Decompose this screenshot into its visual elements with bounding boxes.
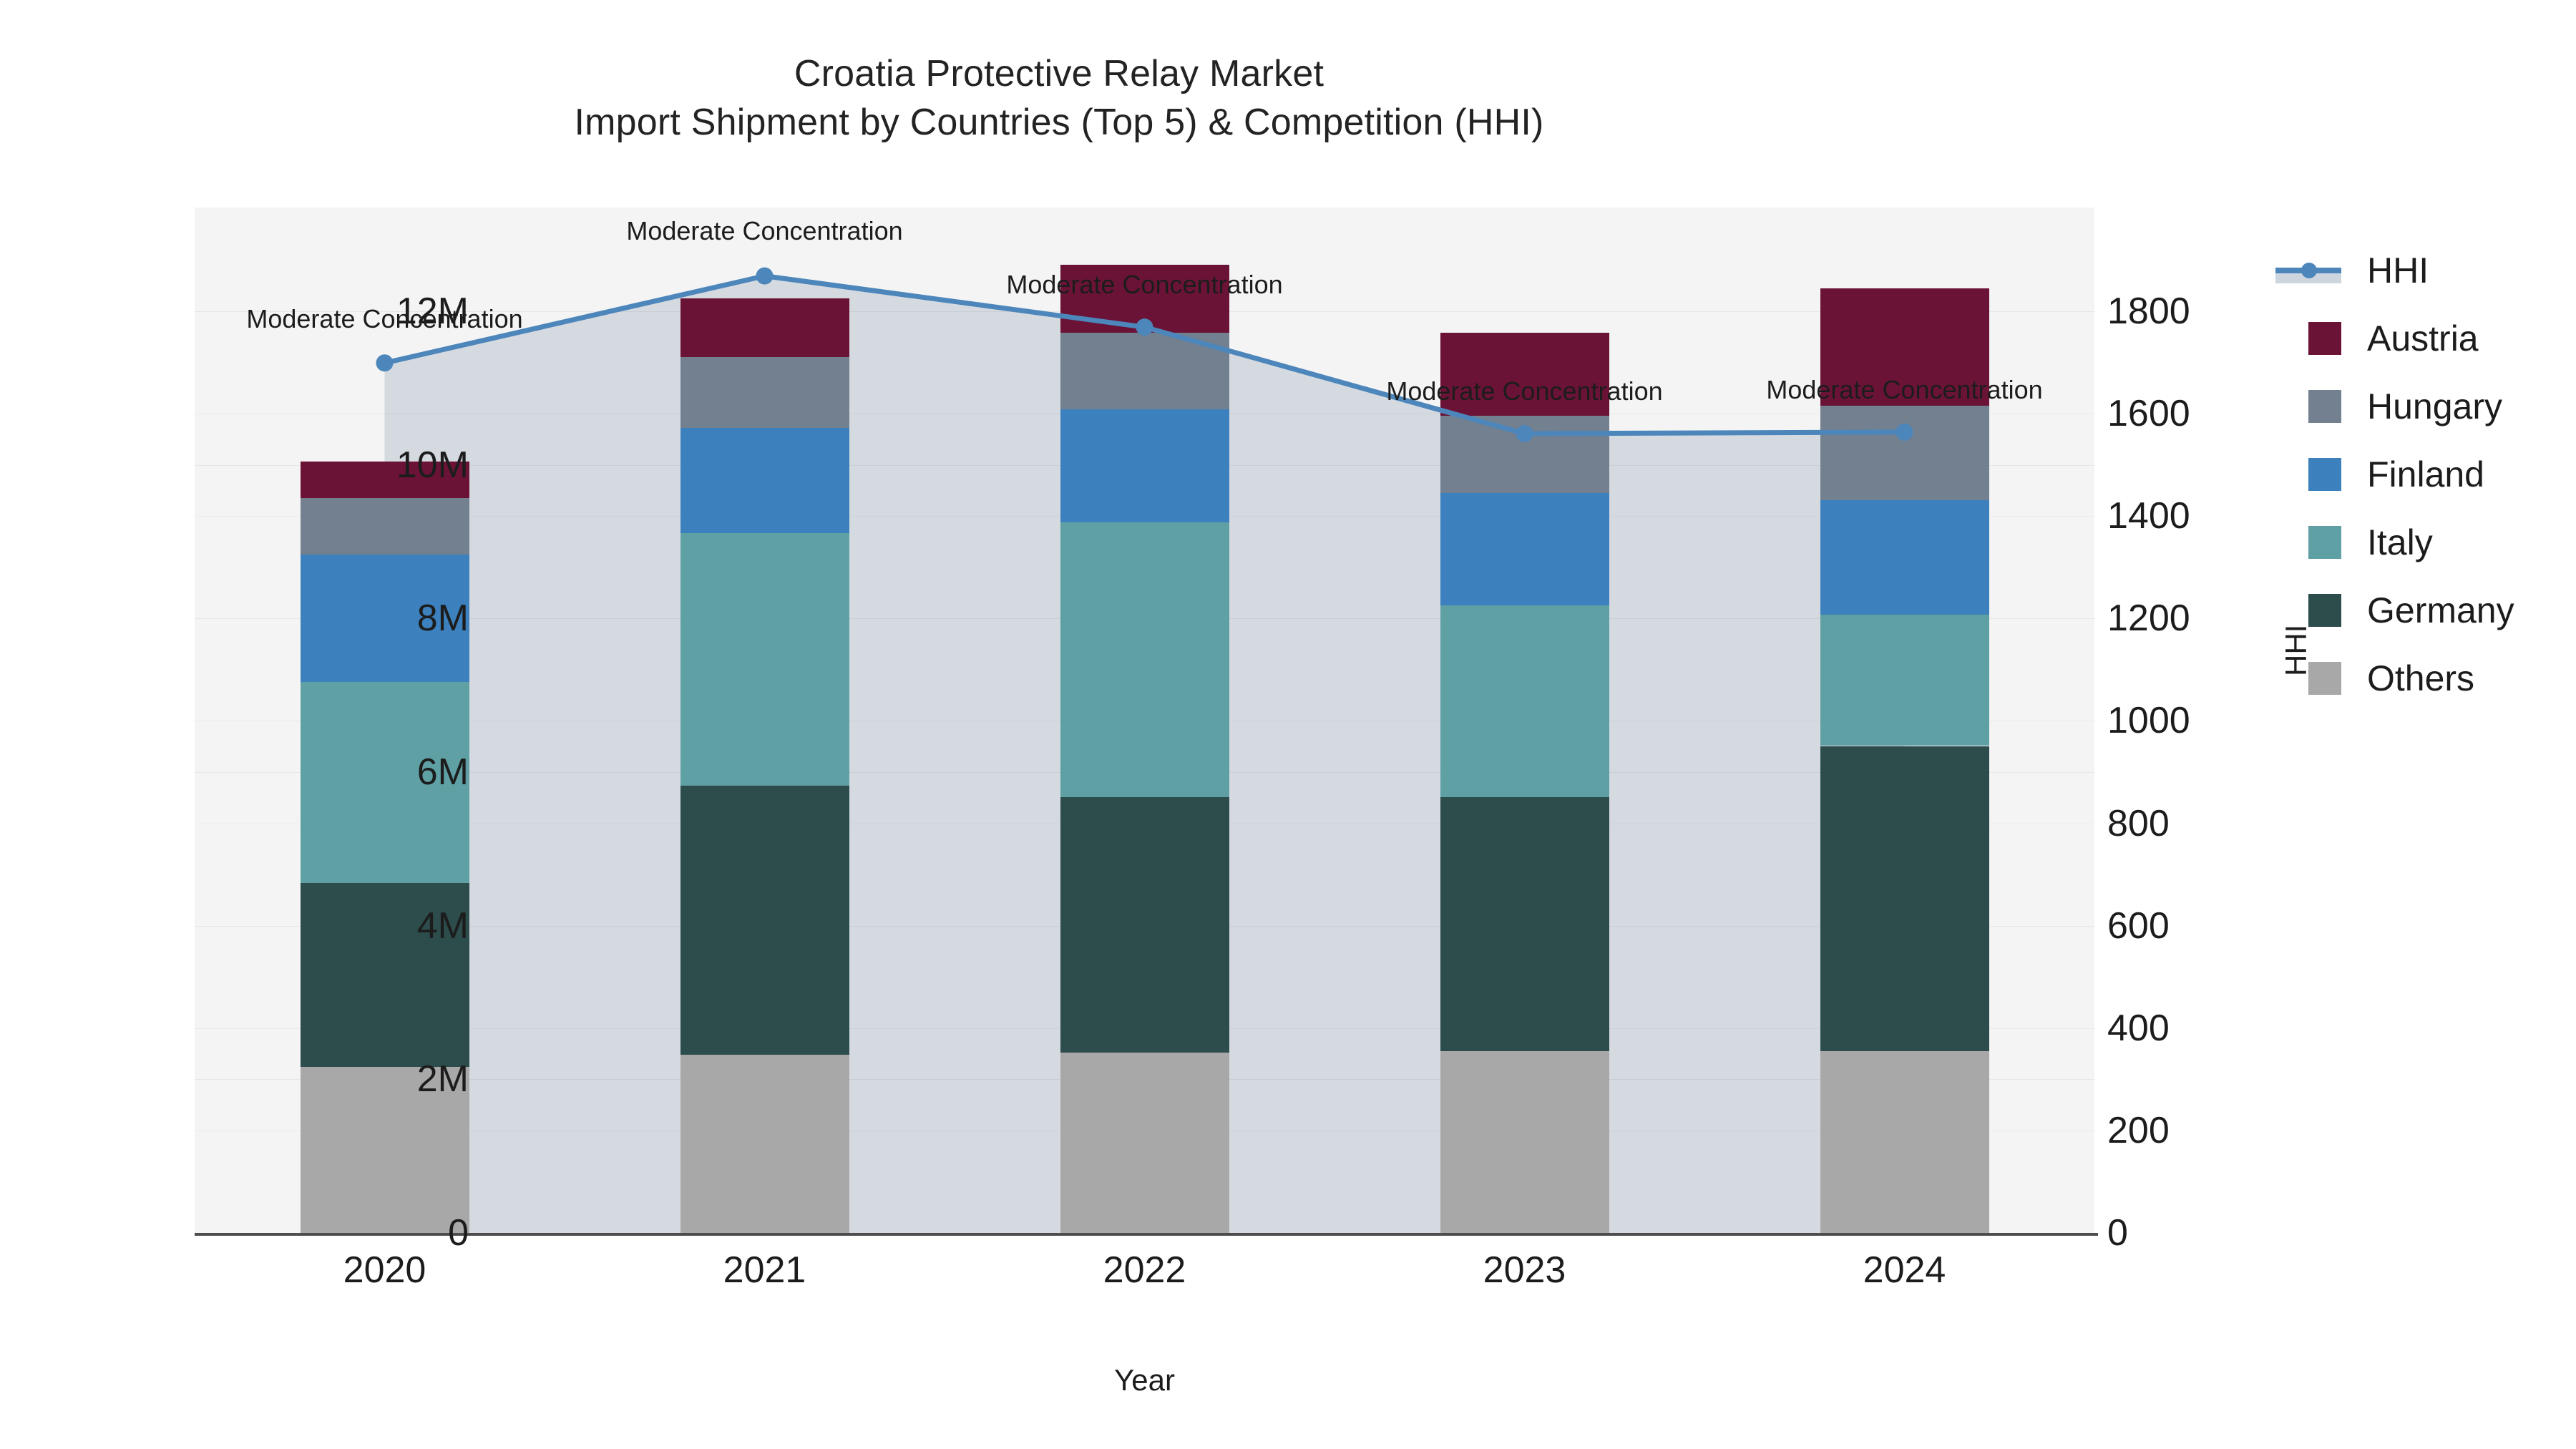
legend-line-icon xyxy=(2275,254,2341,287)
legend-item-others[interactable]: Others xyxy=(2275,644,2576,712)
legend-label-hungary: Hungary xyxy=(2367,386,2502,427)
legend-swatch-others xyxy=(2308,662,2341,695)
hhi-point-2021[interactable] xyxy=(756,268,774,285)
x-axis-label: Year xyxy=(195,1363,2094,1397)
hhi-point-2024[interactable] xyxy=(1896,424,1913,441)
x-tick-2020: 2020 xyxy=(278,1249,492,1292)
annotation-2023: Moderate Concentration xyxy=(1386,376,1662,406)
legend-item-hhi[interactable]: HHI xyxy=(2275,236,2576,304)
legend-label-germany: Germany xyxy=(2367,590,2514,631)
y-tick-right-200: 200 xyxy=(2107,1109,2336,1152)
legend-swatch-italy xyxy=(2308,526,2341,559)
legend-item-finland[interactable]: Finland xyxy=(2275,440,2576,508)
y-tick-right-0: 0 xyxy=(2107,1211,2336,1254)
legend-swatch-finland xyxy=(2308,458,2341,491)
legend-label-austria: Austria xyxy=(2367,318,2479,359)
y-tick-left-10M: 10M xyxy=(254,444,469,487)
legend-item-germany[interactable]: Germany xyxy=(2275,576,2576,644)
plot-area: Moderate ConcentrationModerate Concentra… xyxy=(195,208,2094,1233)
y-tick-right-400: 400 xyxy=(2107,1007,2336,1050)
y-tick-right-800: 800 xyxy=(2107,802,2336,845)
x-axis-line xyxy=(195,1233,2098,1236)
chart-subtitle: Import Shipment by Countries (Top 5) & C… xyxy=(0,99,2118,147)
annotation-2024: Moderate Concentration xyxy=(1766,375,2042,405)
legend-swatch-hungary xyxy=(2308,390,2341,423)
hhi-line-layer xyxy=(195,208,2094,1233)
x-tick-2021: 2021 xyxy=(658,1249,872,1292)
hhi-point-2023[interactable] xyxy=(1516,425,1533,442)
legend-label-hhi: HHI xyxy=(2367,250,2429,291)
x-tick-2022: 2022 xyxy=(1038,1249,1252,1292)
chart-title: Croatia Protective Relay Market xyxy=(0,50,2118,99)
chart-figure: Croatia Protective Relay Market Import S… xyxy=(0,0,2576,1449)
chart-legend: HHIAustriaHungaryFinlandItalyGermanyOthe… xyxy=(2275,236,2576,712)
legend-label-italy: Italy xyxy=(2367,522,2433,563)
annotation-2022: Moderate Concentration xyxy=(1006,270,1282,300)
y-tick-right-600: 600 xyxy=(2107,904,2336,947)
legend-item-hungary[interactable]: Hungary xyxy=(2275,372,2576,440)
hhi-point-2020[interactable] xyxy=(376,354,394,371)
x-tick-2024: 2024 xyxy=(1797,1249,2012,1292)
annotation-2021: Moderate Concentration xyxy=(626,216,902,246)
y-tick-left-4M: 4M xyxy=(254,904,469,947)
legend-item-austria[interactable]: Austria xyxy=(2275,304,2576,372)
y-tick-left-12M: 12M xyxy=(254,290,469,333)
chart-title-block: Croatia Protective Relay Market Import S… xyxy=(0,50,2118,147)
legend-label-finland: Finland xyxy=(2367,454,2484,495)
y-tick-left-2M: 2M xyxy=(254,1058,469,1101)
legend-item-italy[interactable]: Italy xyxy=(2275,508,2576,576)
y-tick-left-0: 0 xyxy=(254,1211,469,1254)
y-tick-left-6M: 6M xyxy=(254,751,469,794)
x-tick-2023: 2023 xyxy=(1418,1249,1632,1292)
legend-swatch-austria xyxy=(2308,322,2341,355)
hhi-point-2022[interactable] xyxy=(1136,318,1153,336)
legend-label-others: Others xyxy=(2367,658,2474,699)
y-tick-left-8M: 8M xyxy=(254,597,469,640)
legend-swatch-germany xyxy=(2308,594,2341,627)
